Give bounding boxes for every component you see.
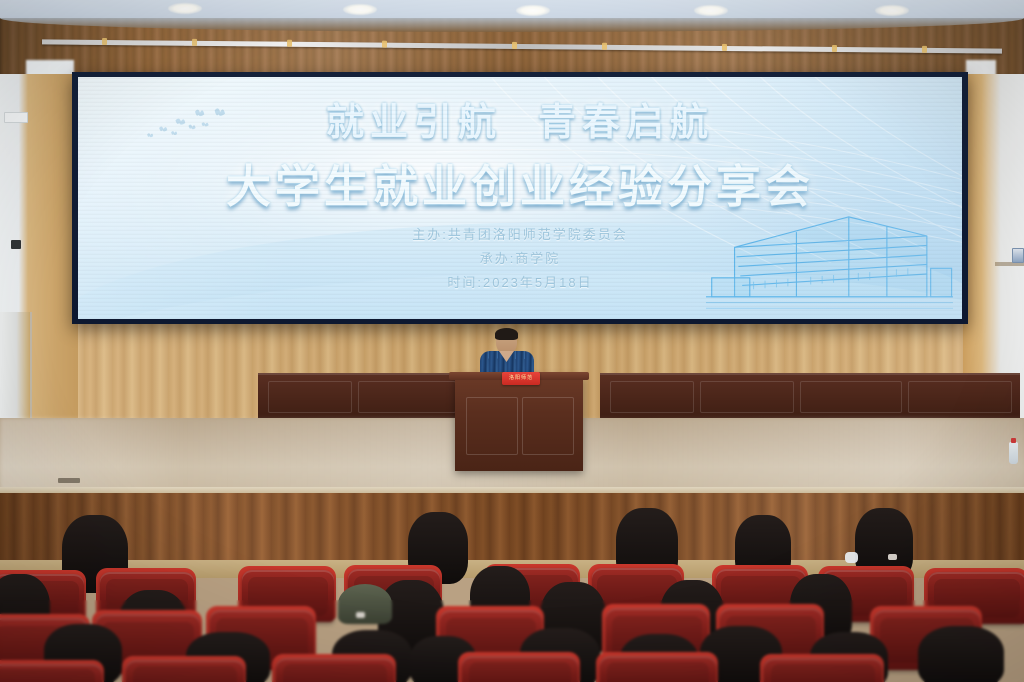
audience-area	[0, 540, 1024, 682]
downlight-icon	[343, 4, 377, 15]
banner-organizer: 主办:共青团洛阳师范学院委员会	[412, 224, 628, 243]
podium-nameplate: 洛阳师范	[502, 372, 540, 385]
podium-panel-left	[466, 397, 518, 455]
hair-clip	[356, 612, 365, 618]
banner-co-organizer: 承办:商学院	[480, 248, 561, 267]
banner-title-part-2: 青春启航	[538, 102, 714, 144]
seat	[764, 658, 882, 682]
light-switch[interactable]	[11, 240, 21, 249]
stage-back-table-left	[258, 373, 464, 421]
stage-back-table-right	[600, 373, 1020, 421]
banner-text-block: 就业引航青春启航 大学生就业创业经验分享会 主办:共青团洛阳师范学院委员会 承办…	[78, 77, 962, 319]
wall-mounted-control-panel[interactable]	[1012, 248, 1024, 263]
downlight-icon	[875, 5, 909, 16]
wall-sign	[4, 112, 28, 123]
banner-title-line-1: 就业引航青春启航	[326, 91, 714, 146]
seat	[0, 664, 102, 682]
led-screen: 就业引航青春启航 大学生就业创业经验分享会 主办:共青团洛阳师范学院委员会 承办…	[78, 77, 962, 319]
podium	[455, 375, 583, 471]
seat	[600, 656, 716, 682]
seat	[462, 656, 578, 682]
hair-clip	[888, 554, 897, 560]
downlight-icon	[694, 5, 728, 16]
speaker-hair	[495, 328, 518, 340]
seat	[126, 660, 244, 682]
cap-hat	[338, 584, 392, 624]
downlight-icon	[168, 3, 202, 14]
banner-title-line-2: 大学生就业创业经验分享会	[226, 150, 814, 215]
auditorium-photo: 就业引航青春启航 大学生就业创业经验分享会 主办:共青团洛阳师范学院委员会 承办…	[0, 0, 1024, 682]
podium-panel-right	[522, 397, 574, 455]
podium-nameplate-label: 洛阳师范	[502, 372, 540, 385]
water-bottle	[1009, 442, 1018, 464]
downlight-icon	[516, 5, 550, 16]
audience-person	[918, 626, 1004, 682]
seat	[276, 658, 394, 682]
face-mask	[845, 552, 858, 563]
banner-title-part-1: 就业引航	[326, 102, 502, 144]
banner-date: 时间:2023年5月18日	[447, 272, 592, 291]
floor-vent	[58, 478, 80, 483]
